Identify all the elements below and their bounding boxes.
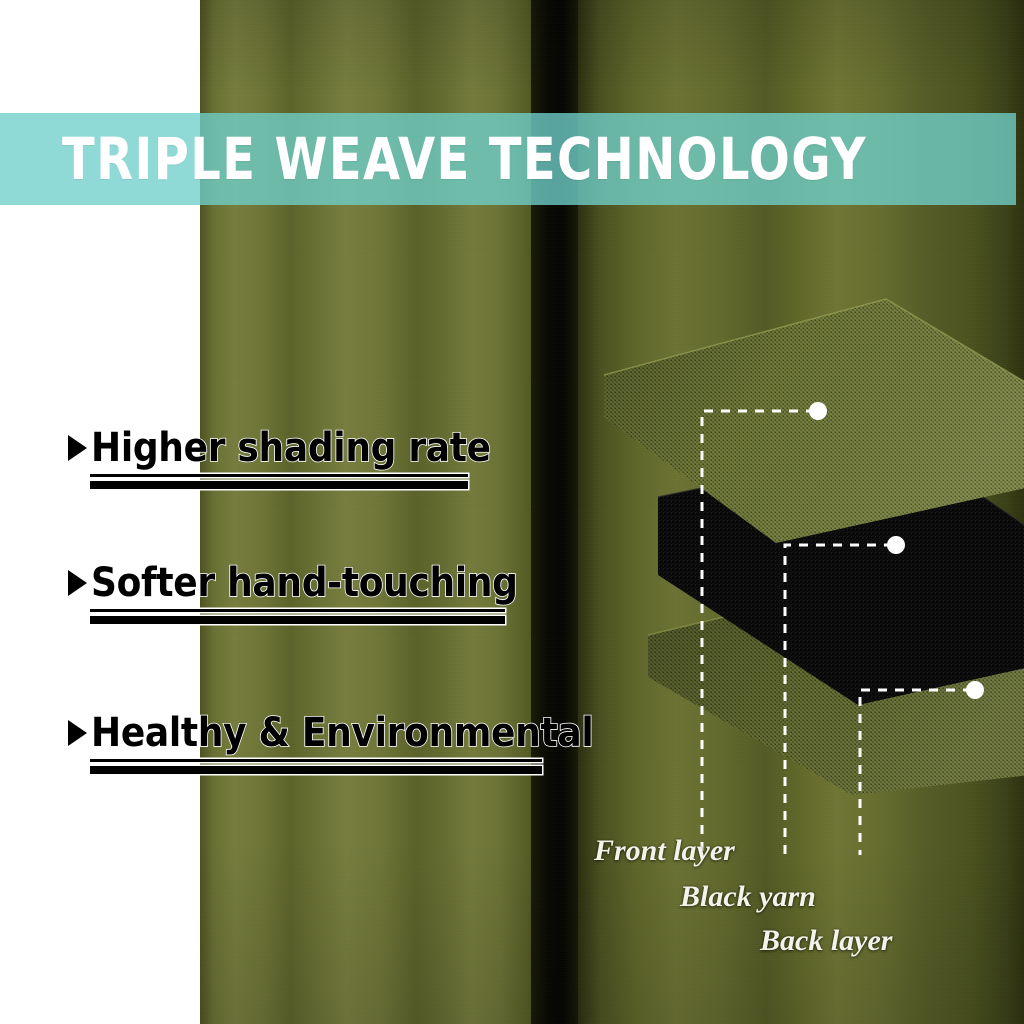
page-title: TRIPLE WEAVE TECHNOLOGY [62,130,867,188]
callout-dot-black-yarn [887,536,905,554]
callout-label-black-yarn: Black yarn [680,882,816,912]
feature-label: Higher shading rate [91,428,491,468]
underline-thick [90,616,505,624]
underline-thick [90,766,542,774]
triple-weave-layer-diagram [590,275,1024,855]
underline-thin [90,474,468,477]
triangle-bullet-icon [68,435,87,461]
feature-item-softer-hand-touching: Softer hand-touching [68,563,518,603]
callout-dot-front-layer [809,402,827,420]
triangle-bullet-icon [68,720,87,746]
callout-dot-back-layer [966,681,984,699]
feature-item-healthy-environmental: Healthy & Environmental [68,713,593,753]
feature-underline [90,759,542,774]
underline-thin [90,759,542,762]
feature-item-higher-shading-rate: Higher shading rate [68,428,491,468]
feature-label: Healthy & Environmental [91,713,593,753]
product-infographic: TRIPLE WEAVE TECHNOLOGY [0,0,1024,1024]
triangle-bullet-icon [68,570,87,596]
headline-banner: TRIPLE WEAVE TECHNOLOGY [0,113,1016,205]
underline-thin [90,609,505,612]
underline-thick [90,481,468,489]
callout-label-front-layer: Front layer [594,836,735,866]
feature-label: Softer hand-touching [91,563,518,603]
feature-underline [90,474,468,489]
feature-underline [90,609,505,624]
callout-label-back-layer: Back layer [760,926,892,956]
